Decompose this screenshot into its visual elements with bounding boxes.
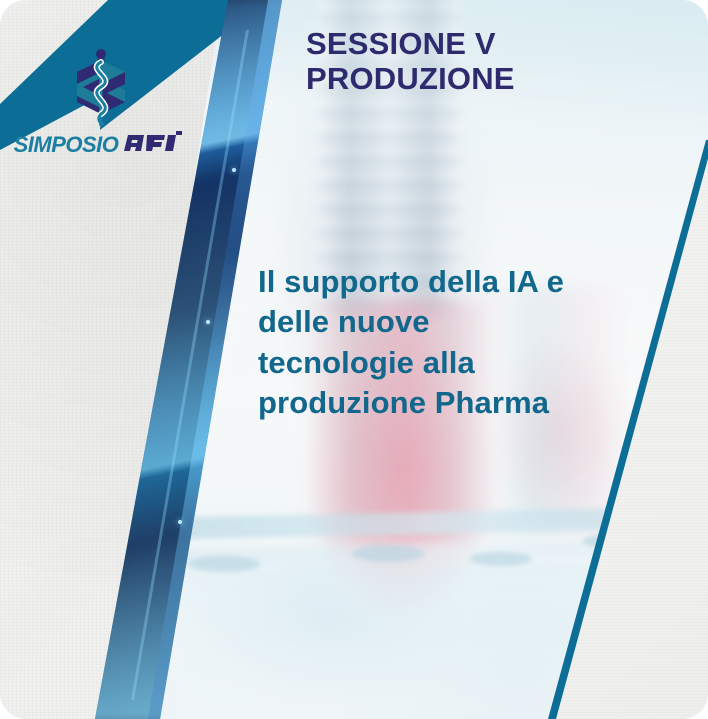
circuit-node-icon <box>232 168 236 172</box>
session-heading-line-2: PRODUZIONE <box>306 61 636 96</box>
caduceus-emblem-icon <box>70 48 132 128</box>
session-heading: SESSIONE V PRODUZIONE <box>306 26 636 97</box>
simposio-afi-logo: SIMPOSIO <box>18 48 178 158</box>
session-heading-line-1: SESSIONE V <box>306 26 636 61</box>
logo-wordmark: SIMPOSIO <box>18 132 178 158</box>
circuit-node-icon <box>178 520 182 524</box>
circuit-node-icon <box>206 320 210 324</box>
session-card: SIMPOSIO SESSIONE V PRODUZIONE <box>0 0 708 719</box>
logo-word-afi <box>120 130 182 161</box>
page-title: Il supporto della IA e delle nuove tecno… <box>258 262 588 423</box>
logo-word-simposio: SIMPOSIO <box>14 132 119 158</box>
